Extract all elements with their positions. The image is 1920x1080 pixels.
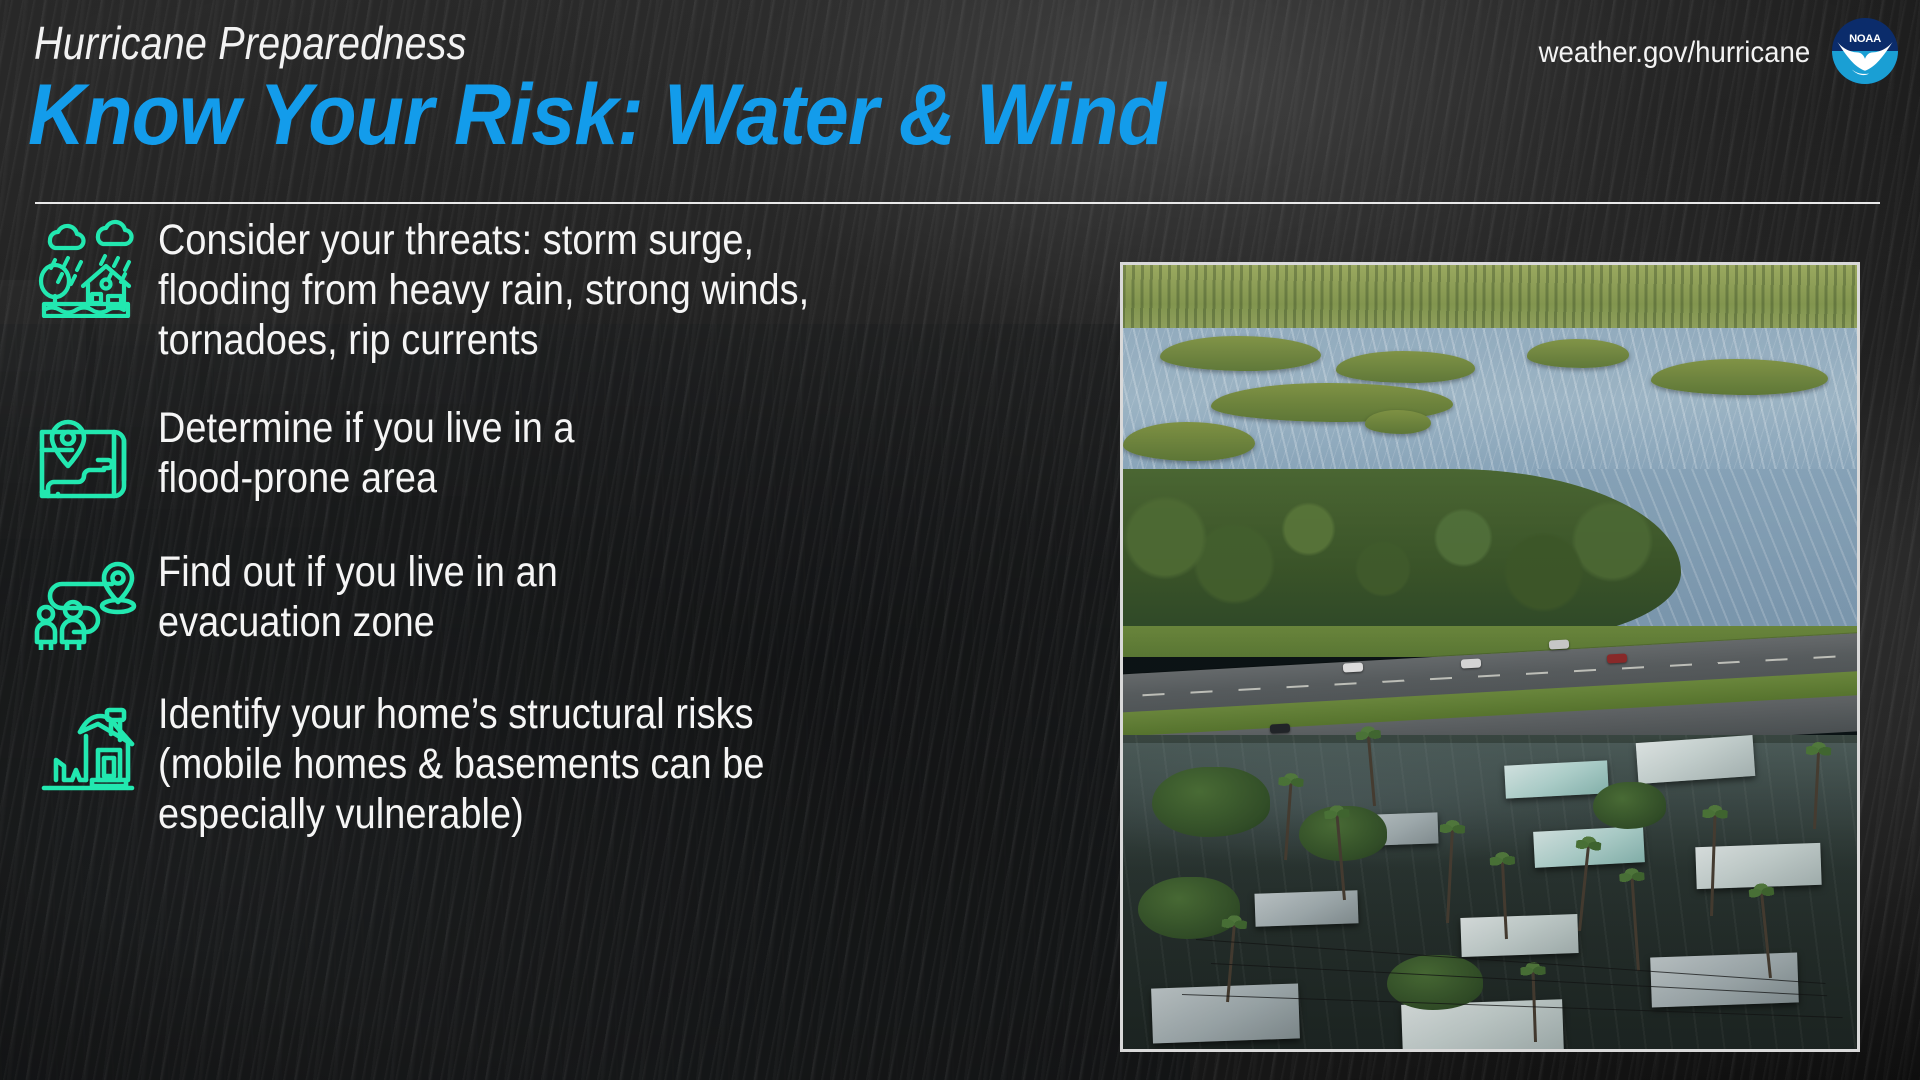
list-item-line: Consider your threats: storm surge, [158, 216, 955, 266]
kicker-title: Hurricane Preparedness [34, 20, 467, 66]
list-item-line: flooding from heavy rain, strong winds, [158, 266, 955, 316]
photo-tree-cluster [1152, 767, 1269, 838]
list-item-line: Find out if you live in an [158, 548, 955, 598]
photo-content [1123, 265, 1857, 1049]
photo-island [1123, 422, 1255, 461]
list-item-text: Consider your threats: storm surge, floo… [158, 212, 955, 366]
photo-house [1151, 984, 1300, 1044]
evacuation-route-people-icon [24, 544, 144, 654]
photo-far-vegetation [1123, 265, 1857, 336]
photo-island [1651, 359, 1827, 395]
header-divider [35, 202, 1880, 204]
map-pin-icon [24, 400, 144, 510]
flooded-house-rain-icon [24, 212, 144, 322]
list-item-line: evacuation zone [158, 598, 955, 648]
photo-car [1548, 639, 1568, 649]
noaa-seal-icon: NOAA [1832, 18, 1898, 84]
list-item: Identify your home’s structural risks (m… [24, 686, 1064, 840]
list-item-line: tornadoes, rip currents [158, 316, 955, 366]
photo-island [1160, 336, 1321, 371]
damaged-house-icon [24, 686, 144, 796]
photo-car [1343, 663, 1363, 673]
page-title: Know Your Risk: Water & Wind [28, 72, 1165, 158]
list-item-line: especially vulnerable) [158, 790, 955, 840]
list-item-text: Identify your home’s structural risks (m… [158, 686, 955, 840]
list-item-text: Find out if you live in an evacuation zo… [158, 544, 955, 648]
photo-island [1336, 351, 1475, 382]
list-item: Find out if you live in an evacuation zo… [24, 544, 1064, 654]
list-item-line: Determine if you live in a [158, 404, 955, 454]
photo-car [1270, 723, 1290, 733]
flooded-neighborhood-aerial-photo [1120, 262, 1860, 1052]
photo-house [1636, 735, 1756, 784]
photo-car [1460, 658, 1480, 668]
photo-house [1460, 914, 1579, 957]
list-item-text: Determine if you live in a flood-prone a… [158, 400, 955, 504]
list-item-line: (mobile homes & basements can be [158, 740, 955, 790]
photo-car [1607, 653, 1627, 663]
photo-tree-cluster [1593, 782, 1666, 829]
photo-house [1504, 760, 1608, 798]
list-item: Determine if you live in a flood-prone a… [24, 400, 1064, 510]
photo-island [1365, 410, 1431, 434]
noaa-seal-label: NOAA [1849, 33, 1881, 45]
site-url-text[interactable]: weather.gov/hurricane [1538, 38, 1810, 68]
photo-island [1527, 339, 1630, 367]
bullet-list: Consider your threats: storm surge, floo… [0, 208, 1090, 1068]
infographic-poster: Hurricane Preparedness Know Your Risk: W… [0, 0, 1920, 1080]
list-item: Consider your threats: storm surge, floo… [24, 212, 1064, 366]
photo-mangrove-belt [1123, 469, 1681, 641]
list-item-line: flood-prone area [158, 454, 955, 504]
list-item-line: Identify your home’s structural risks [158, 690, 955, 740]
